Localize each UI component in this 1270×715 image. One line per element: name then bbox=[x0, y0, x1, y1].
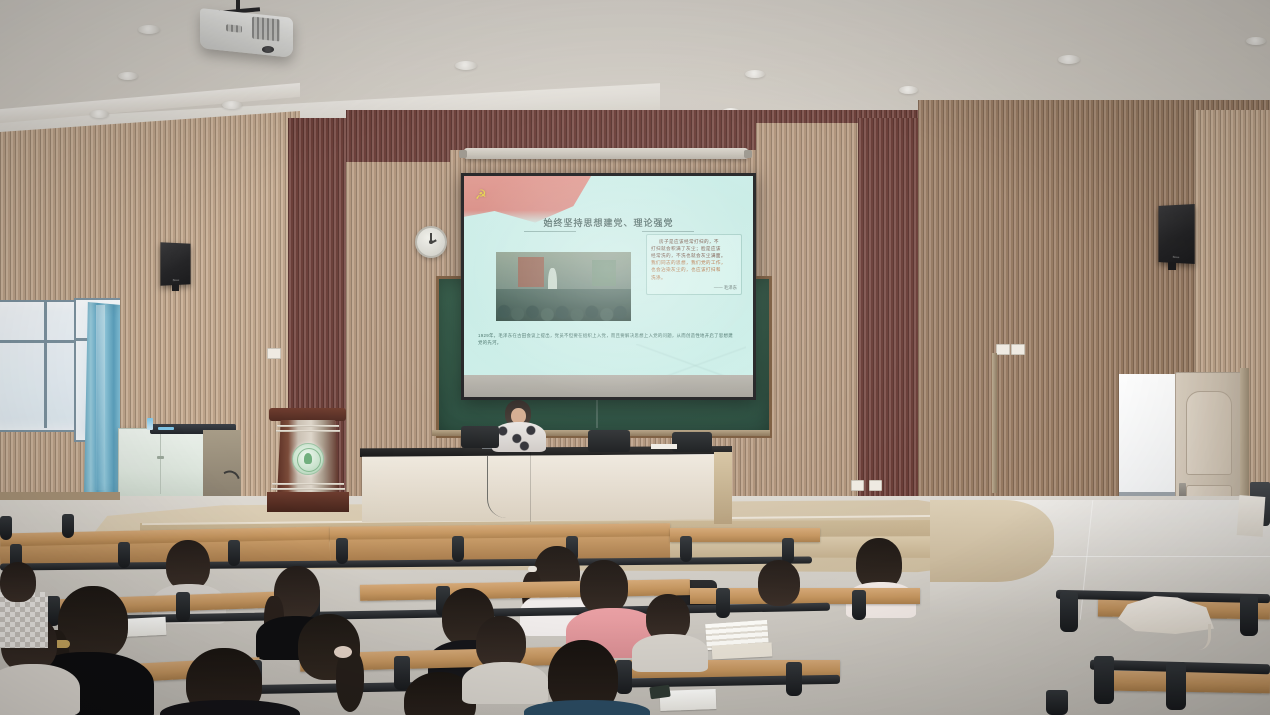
emblem-glyph bbox=[304, 453, 312, 464]
desk-row-far bbox=[670, 528, 820, 542]
screen-case-end bbox=[459, 150, 467, 158]
audience-ponytail bbox=[336, 650, 364, 712]
audience-head bbox=[580, 560, 628, 614]
audience-head bbox=[166, 540, 210, 590]
downlight bbox=[899, 86, 918, 94]
downlight bbox=[455, 61, 477, 70]
audience-torso bbox=[0, 664, 80, 715]
door-panel-upper bbox=[1186, 391, 1232, 475]
photo-crowd bbox=[496, 289, 631, 321]
audience-head bbox=[758, 560, 800, 606]
cabinet-handle[interactable] bbox=[157, 456, 164, 459]
table-edge-right bbox=[714, 452, 732, 524]
speaker-right-bracket bbox=[1168, 262, 1176, 270]
table-cable bbox=[487, 456, 506, 518]
downlight bbox=[1058, 55, 1080, 64]
wall-socket[interactable] bbox=[267, 348, 281, 359]
desk-bracket bbox=[452, 536, 464, 562]
audience-head bbox=[0, 562, 36, 602]
window-mullion bbox=[44, 300, 47, 428]
audience-hair-clip bbox=[528, 566, 537, 572]
downlight bbox=[90, 110, 109, 118]
podium-top bbox=[269, 408, 346, 421]
slide-title-rule-right bbox=[642, 231, 694, 232]
slide-title-rule-left bbox=[524, 231, 576, 232]
podium-stripe bbox=[277, 425, 339, 427]
desk-right-lower bbox=[1110, 671, 1270, 694]
desk-bracket bbox=[1046, 690, 1068, 715]
slide-photo bbox=[496, 252, 631, 321]
desk-bracket bbox=[1094, 656, 1114, 704]
wall-clock bbox=[415, 226, 447, 258]
water-bottle[interactable] bbox=[147, 418, 153, 430]
jacket-strap bbox=[1186, 624, 1211, 650]
quote-line: 洗涤。 bbox=[651, 274, 737, 281]
desk-bracket bbox=[62, 514, 74, 538]
slide-title: 始终坚持思想建党、理论强党 bbox=[464, 216, 753, 229]
console-indicator bbox=[158, 427, 174, 430]
wall-socket[interactable] bbox=[851, 480, 864, 491]
downlight bbox=[222, 101, 242, 109]
desk-bracket bbox=[1240, 596, 1258, 636]
presenter-torso bbox=[492, 422, 546, 452]
cabinet-seam bbox=[160, 432, 161, 494]
podium-stripe bbox=[272, 483, 344, 485]
curtain-fold-highlight bbox=[96, 305, 105, 490]
desk-bracket bbox=[176, 592, 190, 622]
podium-base bbox=[267, 492, 349, 512]
quote-line: 我们同志的思想，我们党的工作， bbox=[651, 259, 737, 266]
desk-bracket bbox=[1060, 592, 1078, 632]
speaker-left-bracket bbox=[172, 284, 179, 291]
cable-conduit bbox=[992, 353, 997, 493]
podium-stripe bbox=[271, 488, 345, 490]
slide-surface: ☭ 始终坚持思想建党、理论强党 房子是应该经常打扫的，不 打扫就会积满了灰尘；脸… bbox=[464, 176, 753, 397]
wall-panel-socket[interactable] bbox=[996, 344, 1010, 355]
conference-table-front bbox=[362, 454, 730, 522]
downlight bbox=[745, 70, 765, 78]
projector-vent bbox=[252, 17, 280, 42]
desk-bracket bbox=[336, 538, 348, 564]
podium-stripe bbox=[276, 430, 340, 432]
stage-right-round bbox=[930, 500, 1054, 582]
screen-case-end bbox=[744, 150, 752, 158]
downlight bbox=[118, 72, 138, 80]
downlight bbox=[1246, 37, 1266, 45]
table-paper bbox=[651, 444, 677, 449]
chair[interactable] bbox=[461, 426, 499, 448]
paper-stack-right bbox=[1237, 495, 1266, 537]
av-cabinet[interactable] bbox=[118, 428, 205, 500]
desk-bracket bbox=[0, 516, 12, 540]
wall-accent-right bbox=[858, 118, 920, 518]
podium-school-emblem bbox=[292, 443, 324, 475]
party-emblem-icon: ☭ bbox=[475, 188, 487, 201]
desk-bracket bbox=[118, 542, 130, 568]
audience-torso bbox=[632, 634, 708, 672]
quote-line: 房子是应该经常打扫的，不 bbox=[651, 238, 737, 245]
chair[interactable] bbox=[588, 430, 630, 452]
wall-panel-socket[interactable] bbox=[1011, 344, 1025, 355]
audience-torso bbox=[462, 662, 548, 704]
slide-quote-box: 房子是应该经常打扫的，不 打扫就会积满了灰尘；脸是应该 经常洗的，不洗也就会灰尘… bbox=[646, 234, 742, 295]
clock-center bbox=[429, 240, 433, 244]
baseboard-left bbox=[0, 492, 120, 500]
desk-bracket bbox=[786, 662, 802, 696]
audience-scrunchie bbox=[334, 646, 352, 658]
quote-attribution: —— 毛泽东 bbox=[651, 285, 737, 291]
quote-line: 打扫就会积满了灰尘；脸是应该 bbox=[651, 245, 737, 252]
desk-bracket bbox=[394, 656, 410, 690]
projection-screen: ☭ 始终坚持思想建党、理论强党 房子是应该经常打扫的，不 打扫就会积满了灰尘；脸… bbox=[461, 173, 756, 400]
wall-socket[interactable] bbox=[869, 480, 882, 491]
photo-banner bbox=[592, 260, 616, 286]
speaker-left: Bose bbox=[160, 242, 190, 285]
screen-lower-band bbox=[464, 375, 753, 397]
screen-housing bbox=[464, 148, 748, 159]
chair[interactable] bbox=[672, 432, 712, 452]
quote-line: 也会沾染灰尘的，也应该打扫和 bbox=[651, 266, 737, 273]
desk-bracket bbox=[716, 588, 730, 618]
speaker-brand-label: Bose bbox=[160, 278, 190, 283]
table-panel-seam bbox=[530, 452, 531, 522]
desk-bracket bbox=[680, 536, 692, 562]
downlight bbox=[138, 25, 160, 34]
lecture-hall-photo: ☭ 始终坚持思想建党、理论强党 房子是应该经常打扫的，不 打扫就会积满了灰尘；脸… bbox=[0, 0, 1270, 715]
quote-line: 经常洗的，不洗也就会灰尘满面。 bbox=[651, 252, 737, 259]
speaker-brand-label: Bose bbox=[1159, 254, 1195, 260]
desk-bracket bbox=[852, 590, 866, 620]
desk-bracket bbox=[228, 540, 240, 566]
projector-lens bbox=[262, 46, 274, 53]
speaker-right: Bose bbox=[1159, 204, 1195, 264]
desk-bracket bbox=[1166, 662, 1186, 710]
desk-bracket bbox=[616, 660, 632, 694]
photo-banner bbox=[518, 257, 544, 287]
